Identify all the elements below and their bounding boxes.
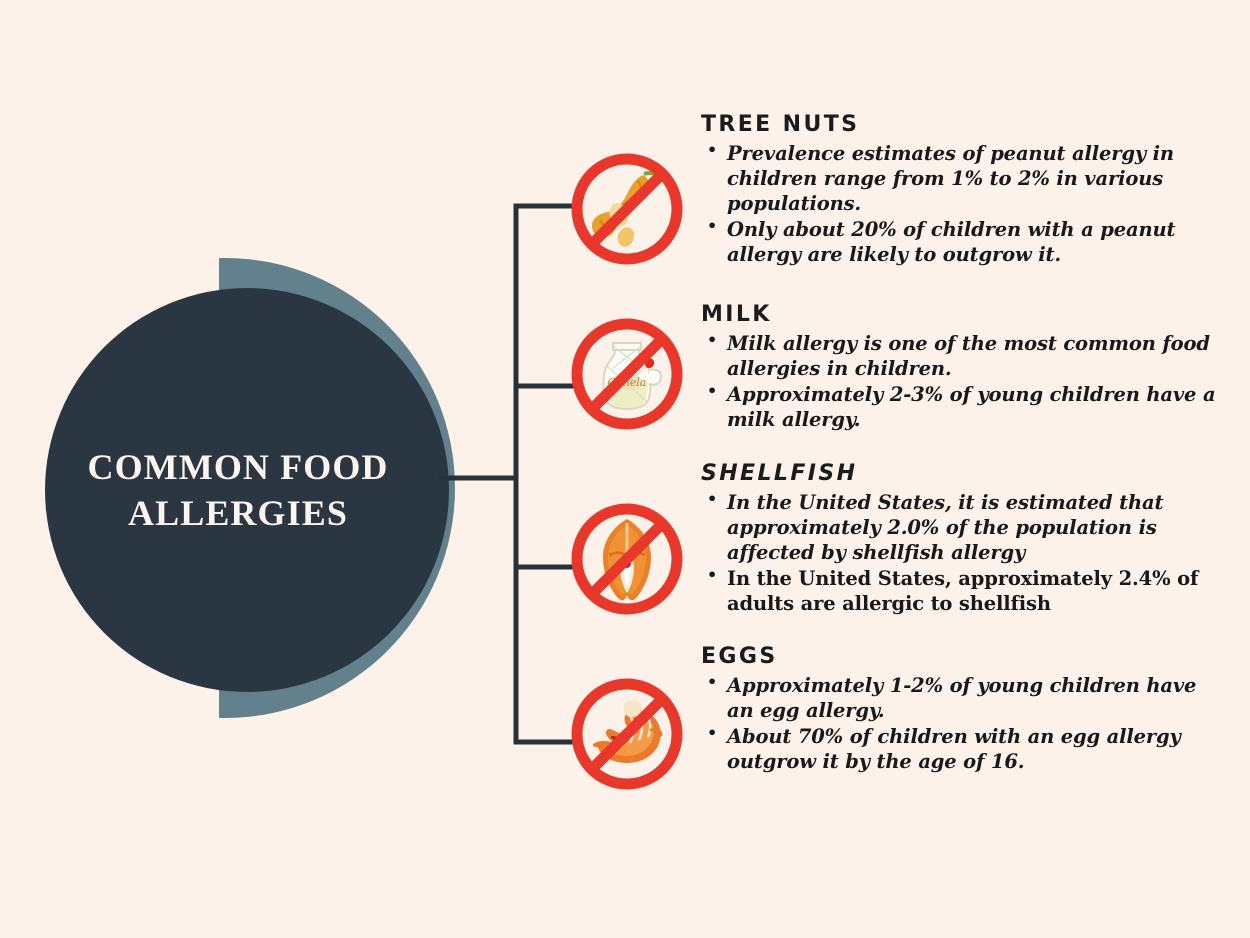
no-fish-steak-icon — [563, 495, 691, 623]
list-item: Prevalence estimates of peanut allergy i… — [701, 141, 1223, 216]
no-peanut-icon — [563, 145, 691, 273]
section-text-eggs: EGGS Approximately 1-2% of young childre… — [691, 645, 1223, 775]
section-row-milk: Canela MILK Milk allergy is one of the m… — [563, 303, 1223, 438]
section-heading: SHELLFISH — [701, 462, 1223, 486]
section-bullet-list: Approximately 1-2% of young children hav… — [701, 673, 1223, 774]
section-text-tree-nuts: TREE NUTS Prevalence estimates of peanut… — [691, 113, 1223, 268]
section-text-shellfish: SHELLFISH In the United States, it is es… — [691, 462, 1223, 617]
section-heading: MILK — [701, 303, 1223, 327]
section-text-milk: MILK Milk allergy is one of the most com… — [691, 303, 1223, 433]
section-heading: TREE NUTS — [701, 113, 1223, 137]
section-bullet-list: Milk allergy is one of the most common f… — [701, 331, 1223, 432]
list-item: In the United States, approximately 2.4%… — [701, 566, 1223, 616]
hub-main-circle: COMMON FOOD ALLERGIES — [45, 288, 449, 692]
section-heading: EGGS — [701, 645, 1223, 669]
list-item: About 70% of children with an egg allerg… — [701, 724, 1223, 774]
section-row-eggs: EGGS Approximately 1-2% of young childre… — [563, 645, 1223, 798]
list-item: Milk allergy is one of the most common f… — [701, 331, 1223, 381]
section-row-shellfish: SHELLFISH In the United States, it is es… — [563, 462, 1223, 623]
page-title: COMMON FOOD ALLERGIES — [73, 444, 421, 536]
section-row-tree-nuts: TREE NUTS Prevalence estimates of peanut… — [563, 113, 1223, 273]
no-shrimp-icon — [563, 670, 691, 798]
list-item: Approximately 2-3% of young children hav… — [701, 382, 1223, 432]
no-milk-jug-icon: Canela — [563, 310, 691, 438]
list-item: In the United States, it is estimated th… — [701, 490, 1223, 565]
list-item: Only about 20% of children with a peanut… — [701, 217, 1223, 267]
section-bullet-list: In the United States, it is estimated th… — [701, 490, 1223, 616]
section-bullet-list: Prevalence estimates of peanut allergy i… — [701, 141, 1223, 267]
list-item: Approximately 1-2% of young children hav… — [701, 673, 1223, 723]
infographic-canvas: COMMON FOOD ALLERGIES — [0, 0, 1250, 938]
